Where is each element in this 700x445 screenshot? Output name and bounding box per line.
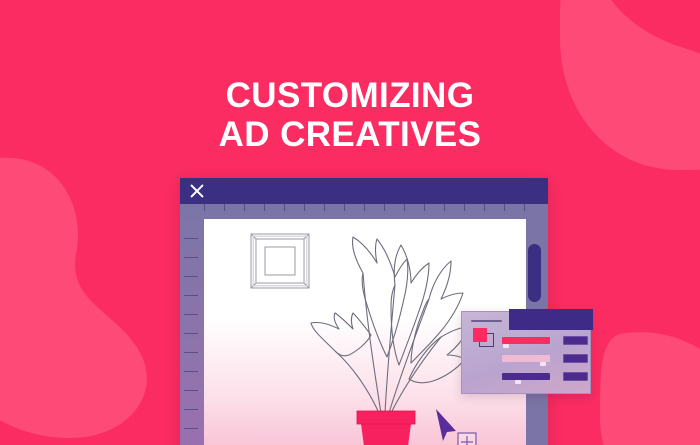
ruler-tick [184, 333, 198, 334]
slide-canvas: CUSTOMIZING AD CREATIVES [0, 0, 700, 445]
slider-stepper-button[interactable] [563, 354, 588, 363]
ruler-tick [184, 409, 198, 410]
slider-stepper-button[interactable] [563, 372, 588, 381]
background-blob-bottom-right [600, 330, 700, 445]
ruler-tick [224, 204, 225, 211]
ruler-tick [184, 257, 198, 258]
page-title: CUSTOMIZING AD CREATIVES [0, 76, 700, 154]
ruler-tick [184, 295, 198, 296]
ruler-tick [204, 204, 205, 211]
ruler-tick [184, 390, 198, 391]
ruler-tick [264, 204, 265, 211]
properties-panel[interactable] [461, 311, 591, 394]
slider-handle[interactable] [503, 344, 509, 348]
slider-track[interactable] [502, 337, 550, 344]
ruler-tick [384, 204, 385, 211]
ruler-tick [484, 204, 485, 211]
page-title-line-1: CUSTOMIZING [0, 76, 700, 115]
ruler-tick [464, 204, 465, 211]
plant-pot [357, 411, 415, 445]
ruler-tick [184, 276, 198, 277]
slider-handle[interactable] [540, 362, 546, 366]
picture-frame-icon[interactable] [250, 233, 310, 289]
ruler-tick [344, 204, 345, 211]
transform-handle-icon [458, 433, 476, 445]
selection-cursor-icon[interactable] [434, 407, 480, 445]
window-titlebar [180, 178, 548, 204]
ruler-tick [184, 314, 198, 315]
slider-track[interactable] [502, 355, 550, 362]
slider-track[interactable] [502, 373, 550, 380]
ruler-tick [184, 371, 198, 372]
vertical-ruler [180, 204, 204, 445]
ruler-tick [304, 204, 305, 211]
slider-stepper-button[interactable] [563, 336, 588, 345]
ruler-tick [184, 352, 198, 353]
background-blob-left [0, 150, 204, 440]
ruler-tick [424, 204, 425, 211]
slider-opacity[interactable] [502, 336, 588, 349]
color-swatch-fill-icon[interactable] [473, 328, 487, 342]
ruler-tick [504, 204, 505, 211]
properties-panel-header [509, 309, 593, 330]
ruler-tick [244, 204, 245, 211]
canvas-scrollbar-thumb[interactable] [528, 244, 541, 302]
ruler-tick [444, 204, 445, 211]
slider-brightness[interactable] [502, 372, 588, 385]
slider-saturation[interactable] [502, 354, 588, 367]
page-title-line-2: AD CREATIVES [0, 115, 700, 154]
ruler-tick [284, 204, 285, 211]
ruler-tick [404, 204, 405, 211]
slider-handle[interactable] [515, 380, 521, 384]
ruler-tick [324, 204, 325, 211]
panel-divider [471, 320, 502, 322]
close-icon[interactable] [190, 184, 204, 198]
ruler-tick [364, 204, 365, 211]
ruler-tick [184, 428, 198, 429]
ruler-tick [184, 238, 198, 239]
ruler-tick [524, 204, 525, 211]
horizontal-ruler [180, 204, 548, 219]
